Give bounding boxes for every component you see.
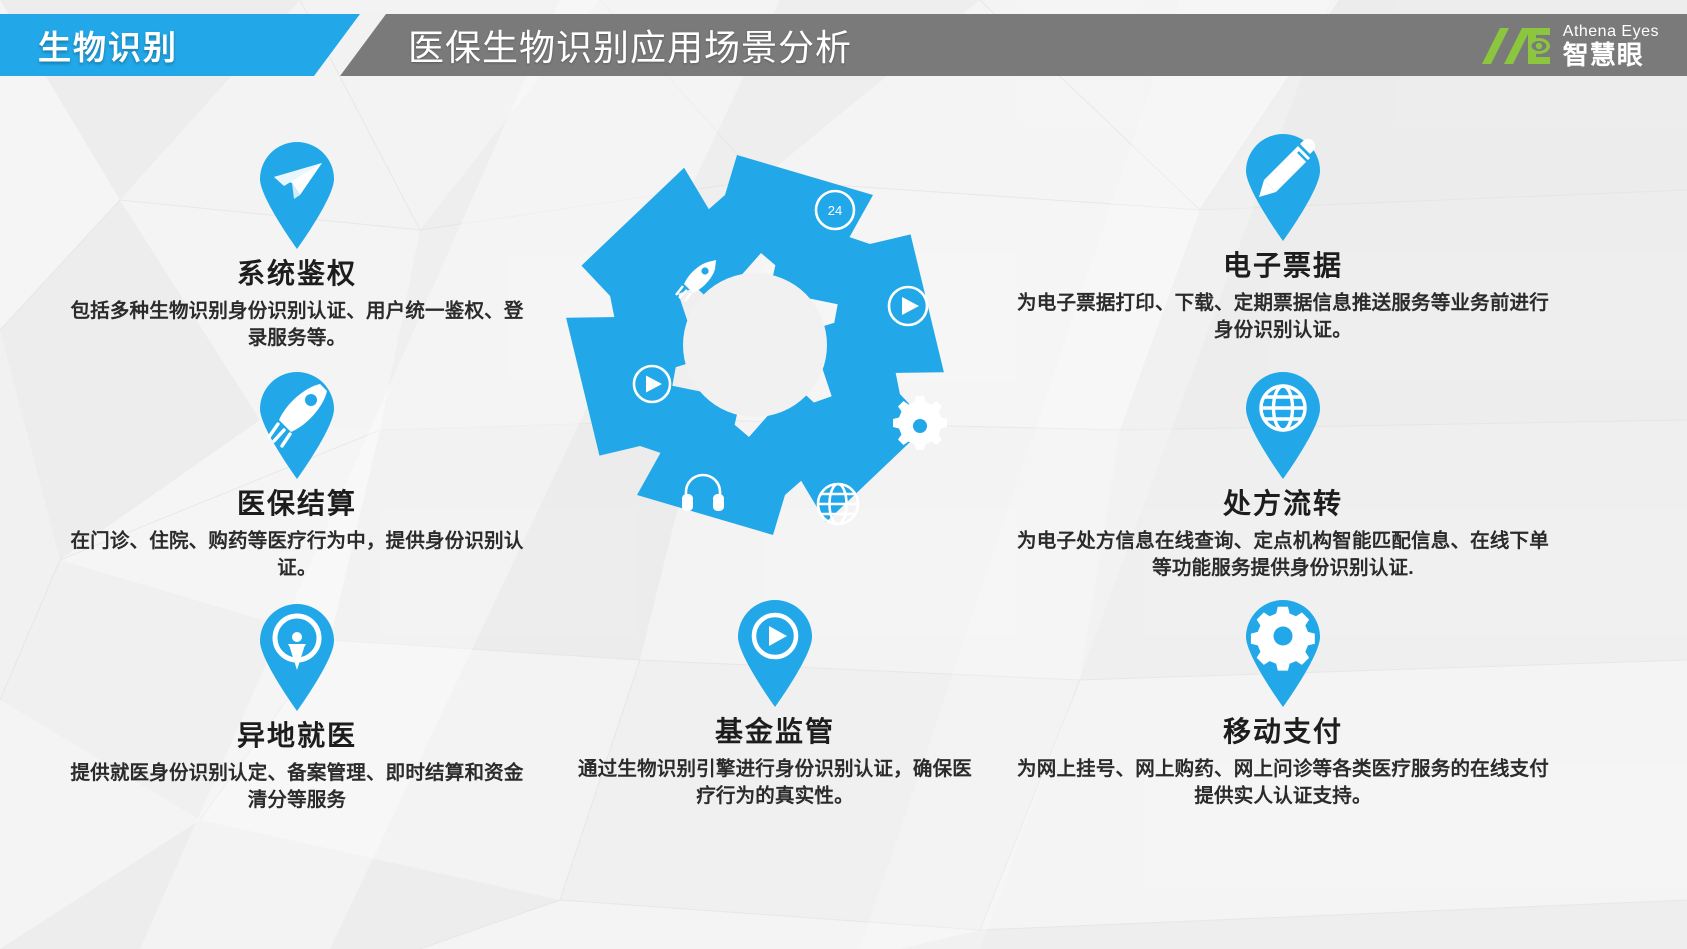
scenario-card-remote-care: 异地就医 提供就医身份识别认定、备案管理、即时结算和资金清分等服务 [62, 604, 532, 814]
page-title: 医保生物识别应用场景分析 [408, 14, 852, 76]
scenario-description: 为电子票据打印、下载、定期票据信息推送服务等业务前进行身份识别认证。 [1013, 290, 1553, 344]
scenario-description: 为网上挂号、网上购药、网上问诊等各类医疗服务的在线支付提供实人认证支持。 [1013, 756, 1553, 810]
ae-monogram-icon [1478, 24, 1554, 68]
svg-text:24: 24 [828, 203, 842, 218]
scenario-title: 基金监管 [575, 710, 975, 750]
scenario-card-mobile-pay: 移动支付 为网上挂号、网上购药、网上问诊等各类医疗服务的在线支付提供实人认证支持… [1013, 600, 1553, 810]
paper-plane-pin-icon [254, 142, 340, 250]
scenario-title: 电子票据 [1013, 244, 1553, 284]
scenario-card-mi-settle: 医保结算 在门诊、住院、购药等医疗行为中，提供身份识别认证。 [62, 372, 532, 582]
scenario-title: 系统鉴权 [62, 252, 532, 292]
scenario-card-e-bill: 电子票据 为电子票据打印、下载、定期票据信息推送服务等业务前进行身份识别认证。 [1013, 134, 1553, 344]
scenario-description: 包括多种生物识别身份识别认证、用户统一鉴权、登录服务等。 [62, 298, 532, 352]
logo-text-block: Athena Eyes 智慧眼 [1563, 24, 1659, 68]
scenario-card-fund-sup: 基金监管 通过生物识别引擎进行身份识别认证，确保医疗行为的真实性。 [575, 600, 975, 810]
scenario-description: 提供就医身份识别认定、备案管理、即时结算和资金清分等服务 [62, 760, 532, 814]
globe-pin-icon [1240, 372, 1326, 480]
scenario-description: 在门诊、住院、购药等医疗行为中，提供身份识别认证。 [62, 528, 532, 582]
header-bar: 生物识别 医保生物识别应用场景分析 Athena Eyes 智慧眼 [0, 14, 1687, 76]
gear-pin-icon [1240, 600, 1326, 708]
header-tag-label: 生物识别 [38, 14, 178, 76]
scenario-title: 医保结算 [62, 482, 532, 522]
map-pin-pin-icon [254, 604, 340, 712]
gear-icon [893, 396, 947, 450]
play-circle-pin-icon [732, 600, 818, 708]
scenario-card-sys-auth: 系统鉴权 包括多种生物识别身份识别认证、用户统一鉴权、登录服务等。 [62, 142, 532, 352]
scenario-description: 通过生物识别引擎进行身份识别认证，确保医疗行为的真实性。 [575, 756, 975, 810]
scenario-title: 处方流转 [1013, 482, 1553, 522]
scenario-title: 移动支付 [1013, 710, 1553, 750]
pencil-pin-icon [1240, 134, 1326, 242]
scenario-card-rx-flow: 处方流转 为电子处方信息在线查询、定点机构智能匹配信息、在线下单等功能服务提供身… [1013, 372, 1553, 582]
brand-logo: Athena Eyes 智慧眼 [1478, 20, 1659, 72]
scenario-description: 为电子处方信息在线查询、定点机构智能匹配信息、在线下单等功能服务提供身份识别认证… [1013, 528, 1553, 582]
hexagon-pinwheel-diagram: 24 [520, 130, 990, 580]
scenario-title: 异地就医 [62, 714, 532, 754]
slide-canvas: 生物识别 医保生物识别应用场景分析 Athena Eyes 智慧眼 [0, 0, 1687, 949]
logo-english-name: Athena Eyes [1563, 24, 1659, 40]
rocket-pin-icon [254, 372, 340, 480]
logo-chinese-name: 智慧眼 [1563, 42, 1659, 68]
